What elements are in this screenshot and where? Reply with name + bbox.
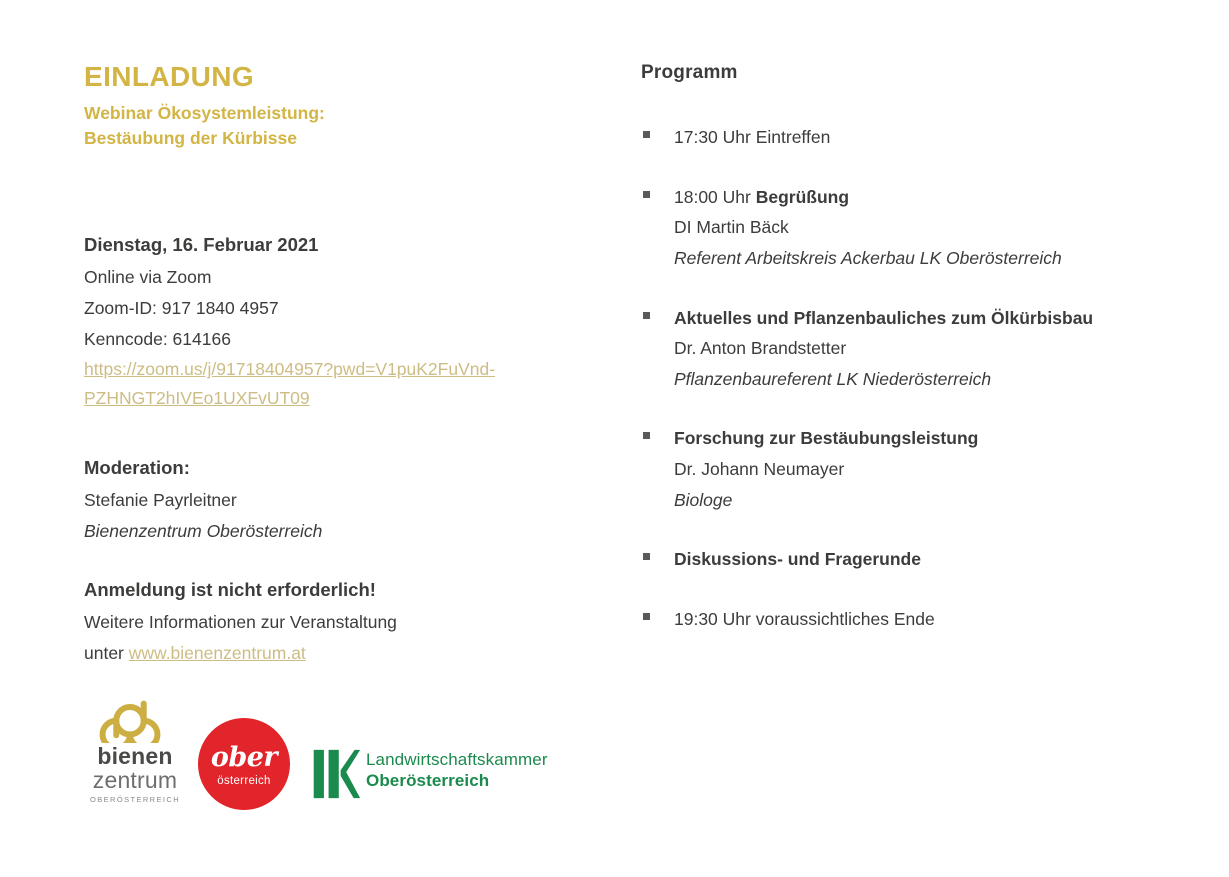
programme-speaker-role: Biologe	[674, 485, 1186, 516]
page-title: EINLADUNG	[84, 62, 604, 93]
logo-strip: bienen zentrum OBERÖSTERREICH ober öster…	[60, 690, 580, 825]
programme-topic: Begrüßung	[756, 187, 849, 207]
bullet-square-icon	[643, 191, 650, 198]
further-information: Weitere Informationen zur Veranstaltung	[84, 607, 604, 638]
zoom-passcode: Kenncode: 614166	[84, 324, 604, 355]
bullet-square-icon	[643, 312, 650, 319]
bienenzentrum-logo: bienen zentrum OBERÖSTERREICH	[70, 695, 200, 804]
moderation-organisation: Bienenzentrum Oberösterreich	[84, 516, 604, 547]
page-subtitle: Webinar Ökosystemleistung: Bestäubung de…	[84, 101, 604, 151]
programme-speaker-role: Pflanzenbaureferent LK Niederösterreich	[674, 364, 1186, 395]
event-date: Dienstag, 16. Februar 2021	[84, 229, 604, 262]
list-item: 17:30 Uhr Eintreffen	[641, 122, 1186, 153]
programme-topic: voraussichtliches Ende	[756, 609, 935, 629]
zoom-link-line-1: https://zoom.us/j/91718404957?pwd=V1puK2…	[84, 359, 495, 379]
moderation-block: Moderation: Stefanie Payrleitner Bienenz…	[84, 452, 604, 547]
programme-headline: Aktuelles und Pflanzenbauliches zum Ölkü…	[674, 303, 1186, 334]
oberoesterreich-script: ober	[198, 742, 290, 773]
subtitle-line-2: Bestäubung der Kürbisse	[84, 126, 604, 151]
programme-headline: 18:00 Uhr Begrüßung	[674, 182, 1186, 213]
bienenzentrum-word-bienen: bienen	[70, 744, 200, 768]
bullet-square-icon	[643, 613, 650, 620]
bienenzentrum-website-link[interactable]: www.bienenzentrum.at	[129, 643, 306, 663]
bullet-square-icon	[643, 131, 650, 138]
oberoesterreich-logo: ober österreich	[198, 718, 290, 810]
list-item: Aktuelles und Pflanzenbauliches zum Ölkü…	[641, 303, 1186, 395]
zoom-join-link[interactable]: https://zoom.us/j/91718404957?pwd=V1puK2…	[84, 355, 604, 412]
lk-line-2: Oberösterreich	[366, 771, 548, 792]
programme-topic: Eintreffen	[756, 127, 831, 147]
zoom-id: Zoom-ID: 917 1840 4957	[84, 293, 604, 324]
programme-time: 19:30 Uhr	[674, 609, 756, 629]
programme-list: 17:30 Uhr Eintreffen 18:00 Uhr Begrüßung…	[641, 122, 1186, 635]
registration-block: Anmeldung ist nicht erforderlich! Weiter…	[84, 574, 604, 669]
bienenzentrum-region: OBERÖSTERREICH	[70, 795, 200, 804]
bullet-square-icon	[643, 432, 650, 439]
programme-headline: Forschung zur Bestäubungsleistung	[674, 423, 1186, 454]
programme-headline: 19:30 Uhr voraussichtliches Ende	[674, 604, 1186, 635]
programme-time: 18:00 Uhr	[674, 187, 756, 207]
lk-line-1: Landwirtschaftskammer	[366, 750, 548, 771]
event-venue: Online via Zoom	[84, 262, 604, 293]
registration-note: Anmeldung ist nicht erforderlich!	[84, 574, 604, 607]
programme-speaker: DI Martin Bäck	[674, 212, 1186, 243]
bee-infinity-icon	[70, 695, 190, 743]
programme-speaker: Dr. Anton Brandstetter	[674, 333, 1186, 364]
zoom-link-line-2: PZHNGT2hIVEo1UXFvUT09	[84, 384, 604, 412]
list-item: 19:30 Uhr voraussichtliches Ende	[641, 604, 1186, 635]
subtitle-line-1: Webinar Ökosystemleistung:	[84, 101, 604, 126]
list-item: Forschung zur Bestäubungsleistung Dr. Jo…	[641, 423, 1186, 515]
website-prefix: unter	[84, 643, 129, 663]
bienenzentrum-word-zentrum: zentrum	[70, 768, 200, 792]
lk-wordmark: Landwirtschaftskammer Oberösterreich	[366, 750, 548, 791]
programme-headline: 17:30 Uhr Eintreffen	[674, 122, 1186, 153]
invitation-page: EINLADUNG Webinar Ökosystemleistung: Bes…	[0, 0, 1229, 877]
programme-time: 17:30 Uhr	[674, 127, 756, 147]
programme-title: Programm	[641, 62, 1186, 84]
programme-topic: Diskussions- und Fragerunde	[674, 549, 921, 569]
invitation-column: EINLADUNG Webinar Ökosystemleistung: Bes…	[84, 62, 604, 150]
moderation-label: Moderation:	[84, 452, 604, 485]
lk-mark-icon	[310, 748, 362, 800]
event-details-block: Dienstag, 16. Februar 2021 Online via Zo…	[84, 229, 604, 412]
oberoesterreich-sub: österreich	[198, 775, 290, 787]
programme-headline: Diskussions- und Fragerunde	[674, 544, 1186, 575]
programme-topic: Aktuelles und Pflanzenbauliches zum Ölkü…	[674, 308, 1093, 328]
landwirtschaftskammer-logo: Landwirtschaftskammer Oberösterreich	[310, 748, 570, 804]
programme-column: Programm 17:30 Uhr Eintreffen 18:00 Uhr …	[641, 62, 1186, 635]
programme-topic: Forschung zur Bestäubungsleistung	[674, 428, 978, 448]
website-line: unter www.bienenzentrum.at	[84, 638, 604, 669]
bullet-square-icon	[643, 553, 650, 560]
list-item: Diskussions- und Fragerunde	[641, 544, 1186, 575]
list-item: 18:00 Uhr Begrüßung DI Martin Bäck Refer…	[641, 182, 1186, 274]
programme-speaker: Dr. Johann Neumayer	[674, 454, 1186, 485]
moderation-name: Stefanie Payrleitner	[84, 485, 604, 516]
programme-speaker-role: Referent Arbeitskreis Ackerbau LK Oberös…	[674, 243, 1186, 274]
